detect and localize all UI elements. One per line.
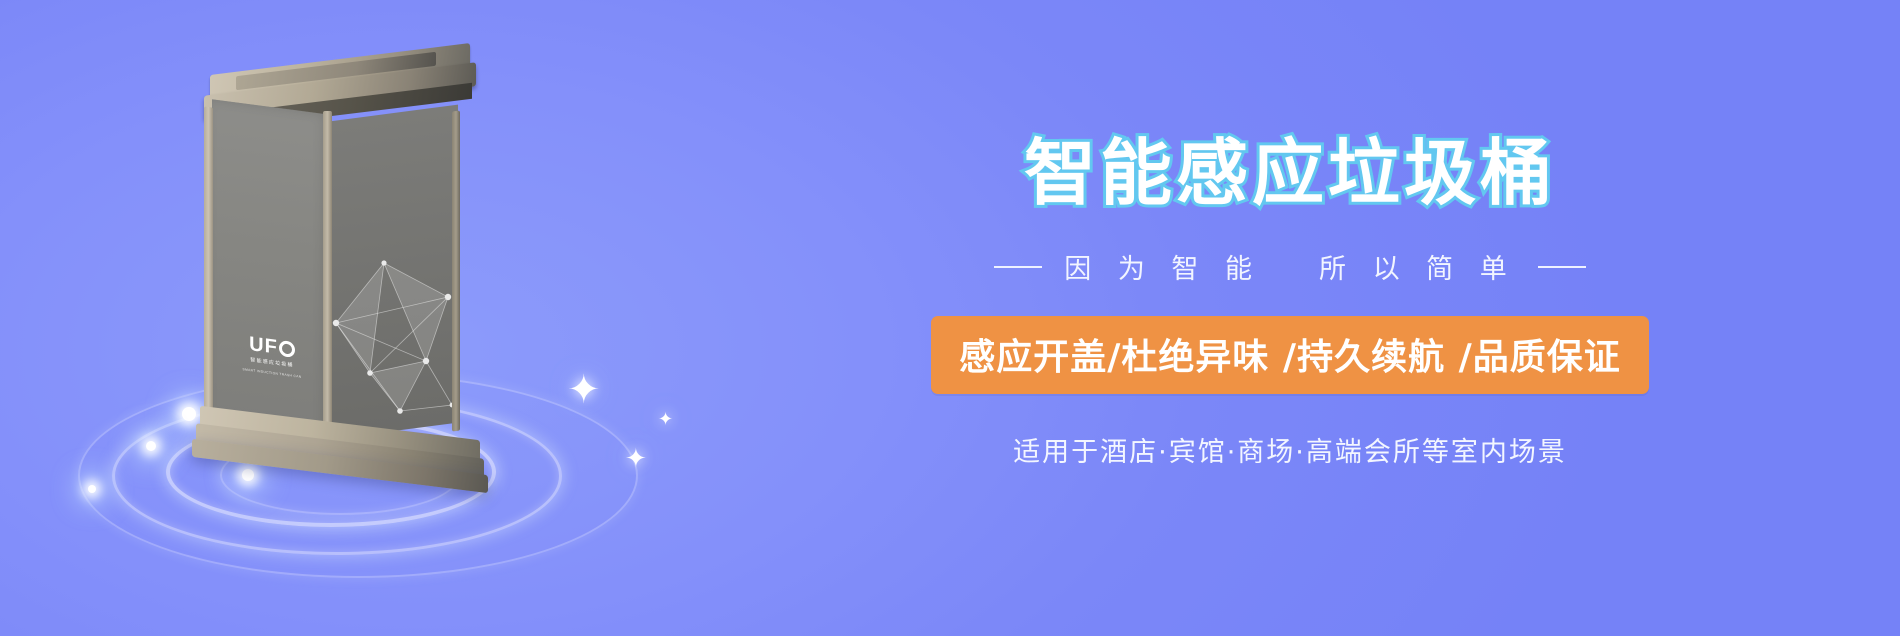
brand-logo-letters: UF (249, 334, 278, 358)
banner-headline: 智能感应垃圾桶 (1024, 137, 1556, 209)
product-banner: ✦ ✦ ✦ (0, 0, 1900, 636)
product-stage: ✦ ✦ ✦ (60, 20, 760, 620)
subline-dash-right (1538, 266, 1586, 268)
body-edge-center (323, 111, 332, 441)
sparkle-icon (88, 485, 96, 493)
subline-text-b: 所 以 简 单 (1319, 247, 1516, 286)
banner-tagline: 适用于酒店·宾馆·商场·高端会所等室内场景 (1013, 430, 1567, 469)
sparkle-star-icon: ✦ (625, 445, 647, 471)
body-edge-left (204, 106, 213, 432)
banner-subline: 因 为 智 能 所 以 简 单 (994, 247, 1586, 286)
subline-dash-left (994, 266, 1042, 268)
sparkle-icon (146, 441, 156, 451)
feature-badge: 感应开盖/杜绝异味 /持久续航 /品质保证 (931, 316, 1649, 394)
body-face-left (212, 99, 330, 435)
polygon-network-graphic (330, 205, 460, 425)
banner-copy-block: 智能感应垃圾桶 因 为 智 能 所 以 简 单 感应开盖/杜绝异味 /持久续航 … (700, 0, 1880, 636)
sparkle-star-icon: ✦ (567, 370, 601, 410)
sparkle-star-icon: ✦ (658, 410, 673, 428)
brand-logo-circle-icon (279, 340, 295, 358)
body-edge-right (452, 110, 460, 431)
trash-can-product-image: UF 智能感应垃圾桶 SMART INDUCTION TRASH CAN (190, 55, 510, 455)
subline-text-a: 因 为 智 能 (1064, 247, 1261, 286)
sparkle-icon (242, 469, 254, 481)
